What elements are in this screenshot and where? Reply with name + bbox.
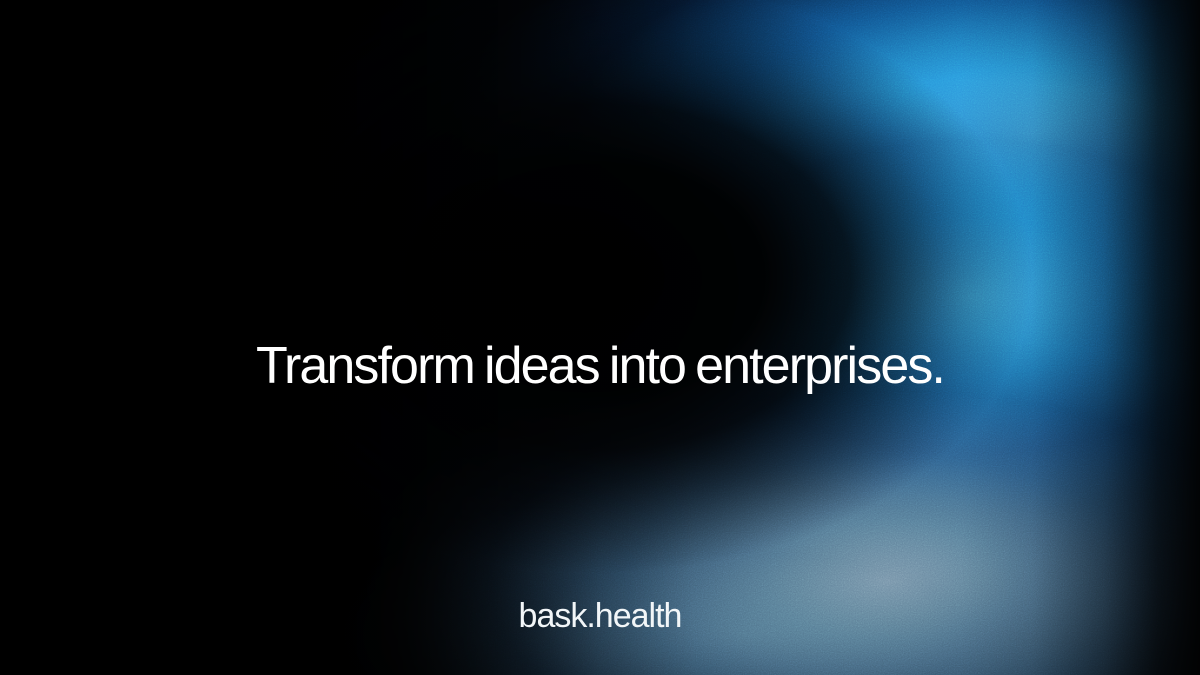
hero-headline: Transform ideas into enterprises. (0, 339, 1200, 394)
brand-wordmark: bask.health (0, 598, 1200, 635)
hero-canvas: Transform ideas into enterprises. bask.h… (0, 0, 1200, 675)
hero-content: Transform ideas into enterprises. bask.h… (0, 0, 1200, 675)
